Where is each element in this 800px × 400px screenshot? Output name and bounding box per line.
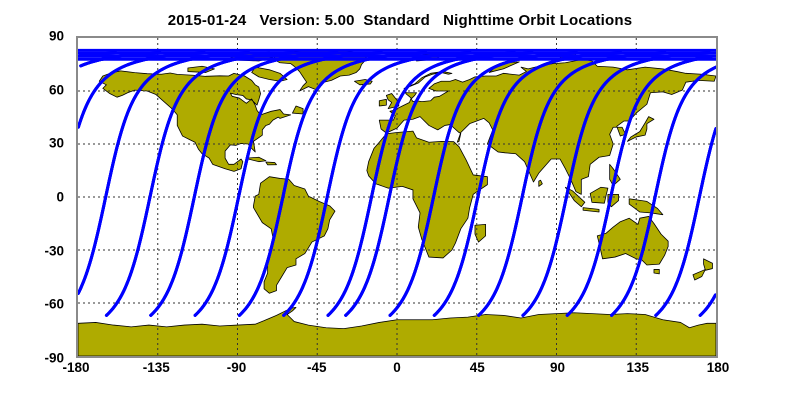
y-tick-label: 60 bbox=[0, 82, 64, 97]
landmass-hispaniola bbox=[266, 162, 277, 165]
y-tick-label: -30 bbox=[0, 243, 64, 258]
landmass-australia bbox=[597, 216, 668, 265]
landmass-south-america bbox=[253, 177, 335, 294]
y-tick-label: -60 bbox=[0, 297, 64, 312]
y-tick-label: 90 bbox=[0, 29, 64, 44]
x-tick-label: 135 bbox=[626, 360, 649, 375]
y-tick-label: 0 bbox=[0, 190, 64, 205]
landmass-borneo bbox=[590, 187, 608, 203]
orbit-track-8 bbox=[700, 295, 715, 315]
x-tick-label: 45 bbox=[470, 360, 485, 375]
page-title: 2015-01-24 Version: 5.00 Standard Nightt… bbox=[0, 12, 800, 29]
landmass-ireland bbox=[379, 99, 386, 106]
x-tick-label: -45 bbox=[307, 360, 327, 375]
landmass-tasmania bbox=[654, 269, 659, 273]
landmass-new-guinea bbox=[629, 199, 663, 215]
landmass-india-lanka bbox=[539, 180, 543, 186]
world-map-with-orbit-tracks bbox=[78, 38, 716, 356]
landmass-java bbox=[583, 208, 599, 212]
x-tick-label: -180 bbox=[62, 360, 89, 375]
x-tick-label: -90 bbox=[227, 360, 247, 375]
landmass-new-zealand-n bbox=[704, 259, 713, 270]
y-tick-label: -90 bbox=[0, 351, 64, 366]
landmass-newfoundland bbox=[292, 106, 303, 114]
y-tick-label: 30 bbox=[0, 136, 64, 151]
x-tick-label: -135 bbox=[143, 360, 170, 375]
plot-area bbox=[76, 36, 718, 358]
landmass-new-zealand-s bbox=[693, 269, 705, 280]
x-tick-label: 180 bbox=[707, 360, 730, 375]
landmass-north-america bbox=[99, 71, 290, 172]
orbit-map-figure: 2015-01-24 Version: 5.00 Standard Nightt… bbox=[0, 0, 800, 400]
x-tick-label: 90 bbox=[550, 360, 565, 375]
landmass-cuba bbox=[246, 157, 265, 161]
x-tick-label: 0 bbox=[393, 360, 401, 375]
